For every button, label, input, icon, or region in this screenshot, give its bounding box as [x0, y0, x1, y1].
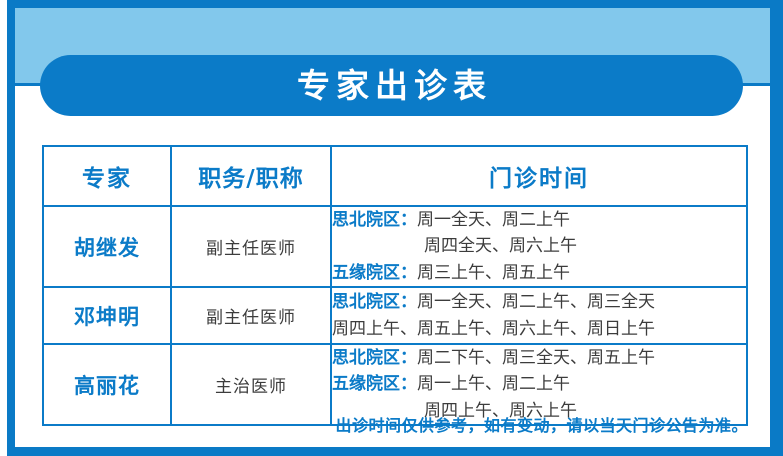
- schedule-line: 五缘院区：周三上午、周五上午: [332, 260, 746, 286]
- page-title: 专家出诊表: [291, 69, 492, 102]
- disclaimer-note: 出诊时间仅供参考，如有变动，请以当天门诊公告为准。: [0, 412, 748, 436]
- frame-border-top: [7, 0, 783, 8]
- frame-border-right: [770, 0, 783, 452]
- doctor-post: 副主任医师: [171, 206, 331, 287]
- doctor-name: 胡继发: [43, 206, 171, 287]
- campus-label: 思北院区：: [332, 348, 417, 368]
- table-header-row: 专家 职务/职称 门诊时间: [43, 146, 747, 206]
- schedule-times: 周四上午、周五上午、周六上午、周日上午: [332, 319, 655, 339]
- doctor-post: 副主任医师: [171, 287, 331, 344]
- campus-label: 五缘院区：: [332, 263, 417, 283]
- schedule-times: 周一上午、周二上午: [417, 374, 570, 394]
- doctor-name: 邓坤明: [43, 287, 171, 344]
- schedule-line: 五缘院区：周一上午、周二上午: [332, 371, 746, 397]
- schedule-table: 专家 职务/职称 门诊时间 胡继发 副主任医师 思北院区：周一全天、周二上午 周…: [42, 145, 748, 426]
- title-banner: 专家出诊表: [40, 55, 743, 116]
- schedule-times: 周二下午、周三全天、周五上午: [417, 348, 655, 368]
- schedule-line: 思北院区：周二下午、周三全天、周五上午: [332, 345, 746, 371]
- frame-border-bottom: [7, 447, 783, 456]
- column-header-clinic-time: 门诊时间: [331, 146, 747, 206]
- campus-label: 五缘院区：: [332, 374, 417, 394]
- campus-label: 思北院区：: [332, 210, 417, 230]
- schedule-line: 周四全天、周六上午: [332, 233, 746, 259]
- schedule-line: 思北院区：周一全天、周二上午: [332, 207, 746, 233]
- table-row: 胡继发 副主任医师 思北院区：周一全天、周二上午 周四全天、周六上午 五缘院区：…: [43, 206, 747, 287]
- schedule-times: 周一全天、周二上午、周三全天: [417, 292, 655, 312]
- table-row: 邓坤明 副主任医师 思北院区：周一全天、周二上午、周三全天 周四上午、周五上午、…: [43, 287, 747, 344]
- doctor-schedule: 思北院区：周一全天、周二上午、周三全天 周四上午、周五上午、周六上午、周日上午: [331, 287, 747, 344]
- schedule-times: 周一全天、周二上午: [417, 210, 570, 230]
- schedule-times: 周四全天、周六上午: [424, 236, 577, 256]
- column-header-doctor: 专家: [43, 146, 171, 206]
- schedule-line: 思北院区：周一全天、周二上午、周三全天: [332, 289, 746, 315]
- schedule-times: 周三上午、周五上午: [417, 263, 570, 283]
- doctor-schedule: 思北院区：周一全天、周二上午 周四全天、周六上午 五缘院区：周三上午、周五上午: [331, 206, 747, 287]
- campus-label: 思北院区：: [332, 292, 417, 312]
- frame-border-left: [7, 0, 15, 452]
- schedule-line: 周四上午、周五上午、周六上午、周日上午: [332, 316, 746, 342]
- schedule-poster: 专家出诊表 专家 职务/职称 门诊时间 胡继发 副主任医师 思北院区：周一全天、…: [0, 0, 783, 456]
- column-header-post: 职务/职称: [171, 146, 331, 206]
